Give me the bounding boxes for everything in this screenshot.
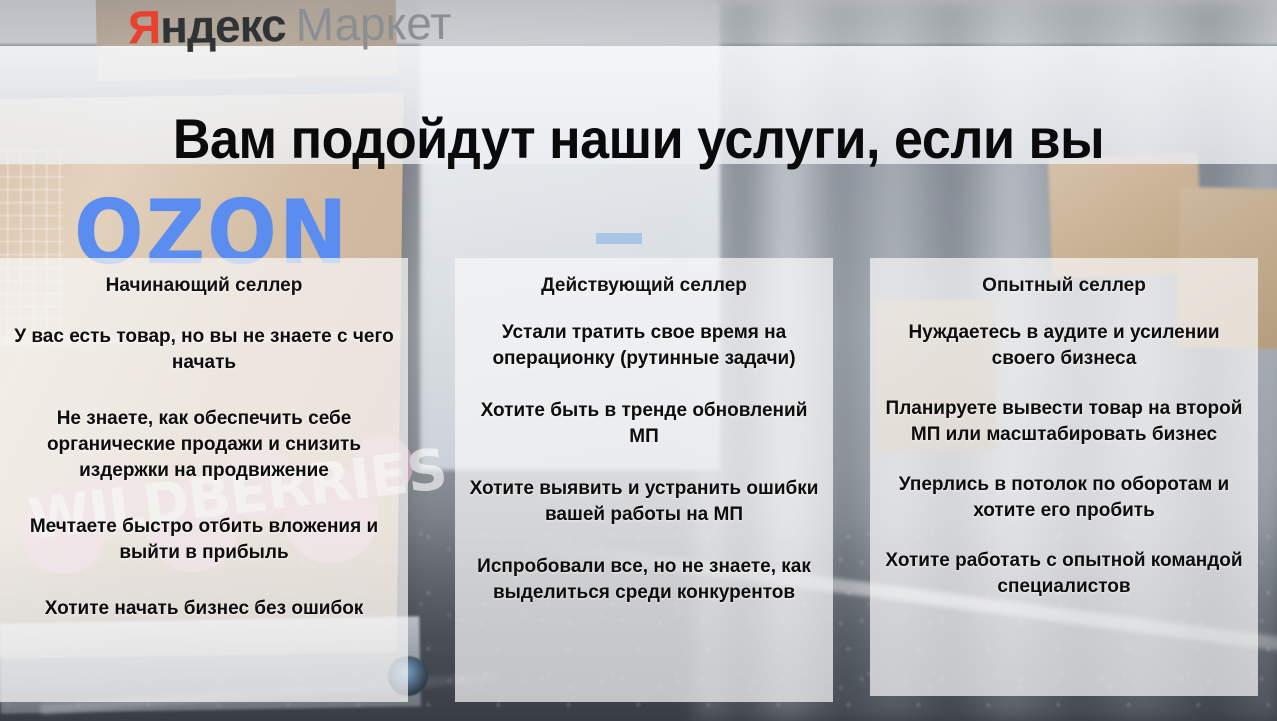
list-item: Хотите быть в тренде обновлений МП: [469, 398, 819, 450]
list-item: Мечтаете быстро отбить вложения и выйти …: [14, 514, 394, 566]
audience-column-active: Действующий селлер Устали тратить свое в…: [455, 258, 833, 702]
audience-column-experienced: Опытный селлер Нуждаетесь в аудите и уси…: [870, 258, 1258, 696]
column-items-experienced: Нуждаетесь в аудите и усилении своего би…: [884, 320, 1244, 600]
column-items-beginner: У вас есть товар, но вы не знаете с чего…: [14, 324, 394, 622]
list-item: Не знаете, как обеспечить себе органичес…: [14, 406, 394, 484]
list-item: Хотите начать бизнес без ошибок: [14, 596, 394, 622]
presentation-slide: ЯндексМаркет OZON WILDBERRIES Вам подойд…: [0, 0, 1277, 721]
column-heading-experienced: Опытный селлер: [884, 274, 1244, 298]
audience-columns: Начинающий селлер У вас есть товар, но в…: [0, 0, 1277, 721]
list-item: У вас есть товар, но вы не знаете с чего…: [14, 324, 394, 376]
column-heading-active: Действующий селлер: [469, 274, 819, 298]
list-item: Хотите выявить и устранить ошибки вашей …: [469, 476, 819, 528]
column-items-active: Устали тратить свое время на операционку…: [469, 320, 819, 606]
list-item: Нуждаетесь в аудите и усилении своего би…: [884, 320, 1244, 372]
list-item: Хотите работать с опытной командой специ…: [884, 548, 1244, 600]
column-heading-beginner: Начинающий селлер: [14, 274, 394, 298]
list-item: Испробовали все, но не знаете, как выдел…: [469, 554, 819, 606]
audience-column-beginner: Начинающий селлер У вас есть товар, но в…: [0, 258, 408, 702]
list-item: Уперлись в потолок по оборотам и хотите …: [884, 472, 1244, 524]
list-item: Устали тратить свое время на операционку…: [469, 320, 819, 372]
list-item: Планируете вывести товар на второй МП ил…: [884, 396, 1244, 448]
